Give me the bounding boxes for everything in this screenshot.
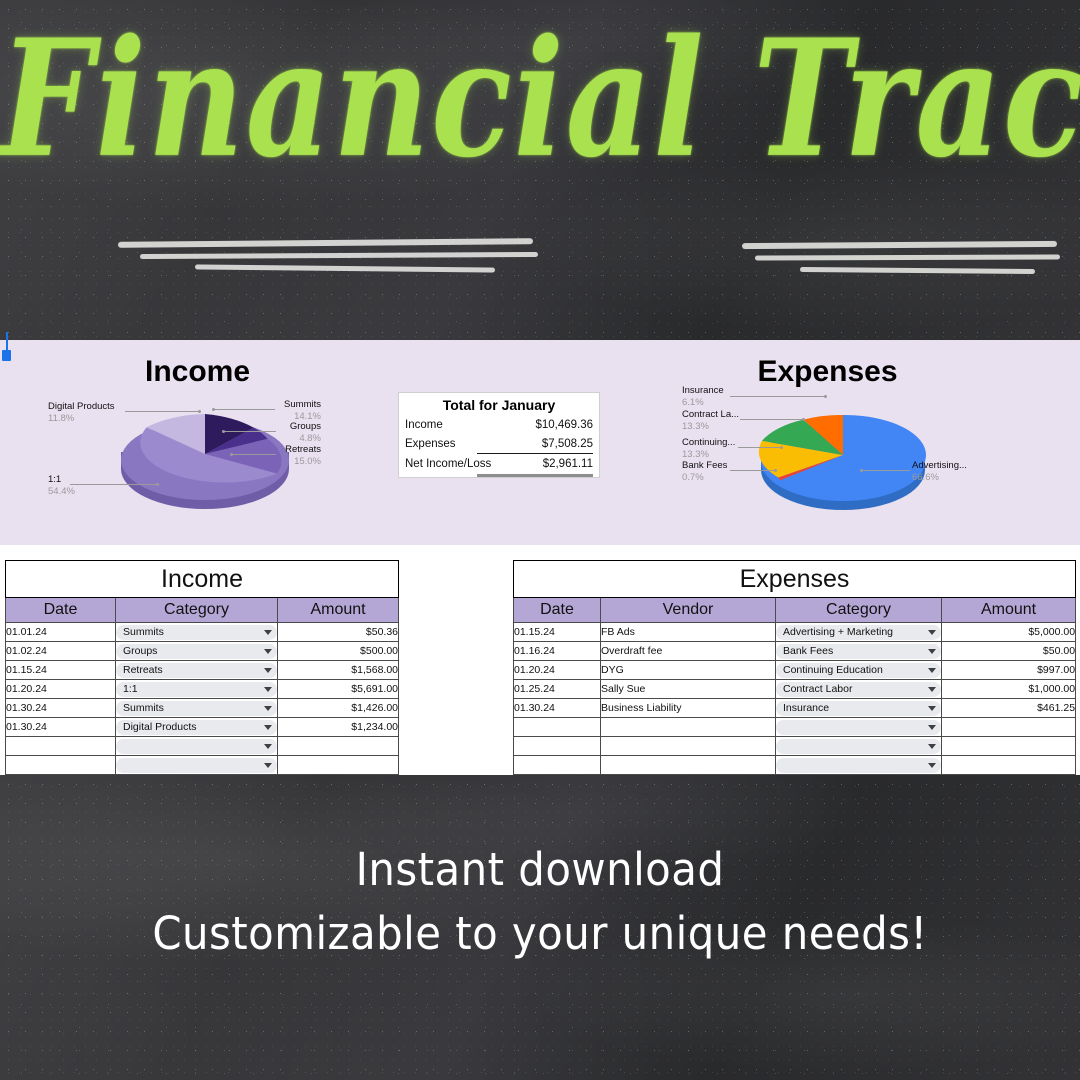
chevron-down-icon bbox=[928, 706, 936, 711]
income-table[interactable]: Income Date Category Amount 01.01.24 Sum… bbox=[5, 560, 399, 775]
chart-selection-line bbox=[6, 332, 8, 352]
dropdown-value: Summits bbox=[123, 626, 164, 638]
income-cell-amount[interactable]: $5,691.00 bbox=[278, 680, 399, 699]
expenses-cell-vendor[interactable]: FB Ads bbox=[601, 623, 776, 642]
table-row bbox=[6, 737, 399, 756]
chevron-down-icon bbox=[928, 687, 936, 692]
income-cell-amount[interactable] bbox=[278, 756, 399, 775]
footer-line-customizable: Customizable to your unique needs! bbox=[38, 902, 1042, 966]
leader-dot bbox=[860, 469, 863, 472]
income-cell-category[interactable]: Summits bbox=[116, 699, 278, 718]
category-dropdown[interactable]: Advertising + Marketing bbox=[776, 625, 941, 640]
income-table-title: Income bbox=[6, 561, 399, 598]
summary-label: Income bbox=[405, 419, 443, 431]
category-dropdown[interactable] bbox=[776, 758, 941, 773]
leader-dot bbox=[222, 430, 225, 433]
leader-line bbox=[740, 419, 804, 420]
income-cell-category[interactable]: Digital Products bbox=[116, 718, 278, 737]
expenses-cell-vendor[interactable]: DYG bbox=[601, 661, 776, 680]
expenses-cell-amount[interactable] bbox=[942, 737, 1076, 756]
income-cell-amount[interactable]: $500.00 bbox=[278, 642, 399, 661]
chevron-down-icon bbox=[928, 744, 936, 749]
monthly-total-summary: Total for January Income $10,469.36 Expe… bbox=[398, 392, 600, 478]
income-cell-amount[interactable]: $1,234.00 bbox=[278, 718, 399, 737]
dropdown-value: Bank Fees bbox=[783, 645, 833, 657]
summary-value: $7,508.25 bbox=[507, 438, 593, 450]
leader-dot bbox=[780, 446, 783, 449]
income-label-groups: Groups 4.8% bbox=[246, 421, 321, 444]
table-row: 01.01.24 Summits $50.36 bbox=[6, 623, 399, 642]
summary-row-income: Income $10,469.36 bbox=[399, 415, 599, 434]
footer-marketing-text: Instant download Customizable to your un… bbox=[0, 838, 1080, 966]
expenses-label-contract-labor: Contract La... 13.3% bbox=[682, 409, 739, 432]
category-dropdown[interactable]: Continuing Education bbox=[776, 663, 941, 678]
leader-line bbox=[70, 484, 158, 485]
income-col-date: Date bbox=[6, 598, 116, 623]
category-dropdown[interactable]: Contract Labor bbox=[776, 682, 941, 697]
category-dropdown[interactable]: Groups bbox=[116, 644, 277, 659]
income-cell-date[interactable]: 01.30.24 bbox=[6, 699, 116, 718]
table-row: 01.16.24 Overdraft fee Bank Fees $50.00 bbox=[514, 642, 1076, 661]
dropdown-value: Advertising + Marketing bbox=[783, 626, 893, 638]
chevron-down-icon bbox=[264, 668, 272, 673]
category-dropdown[interactable] bbox=[116, 758, 277, 773]
dropdown-value: Groups bbox=[123, 645, 157, 657]
expenses-cell-amount[interactable] bbox=[942, 718, 1076, 737]
income-cell-category[interactable]: Summits bbox=[116, 623, 278, 642]
income-col-amount: Amount bbox=[278, 598, 399, 623]
chevron-down-icon bbox=[928, 649, 936, 654]
table-row bbox=[514, 756, 1076, 775]
summary-label: Net Income/Loss bbox=[405, 458, 491, 470]
expenses-cell-date[interactable]: 01.20.24 bbox=[514, 661, 601, 680]
expenses-chart-title: Expenses bbox=[700, 355, 955, 389]
expenses-col-vendor: Vendor bbox=[601, 598, 776, 623]
expenses-label-advertising: Advertising... 66.6% bbox=[912, 460, 967, 483]
leader-line bbox=[224, 431, 276, 432]
chevron-down-icon bbox=[264, 687, 272, 692]
chevron-down-icon bbox=[264, 630, 272, 635]
leader-dot bbox=[230, 453, 233, 456]
chalk-underline-group bbox=[0, 240, 1080, 290]
income-cell-date[interactable]: 01.15.24 bbox=[6, 661, 116, 680]
expenses-table-title: Expenses bbox=[514, 561, 1076, 598]
category-dropdown[interactable]: Summits bbox=[116, 701, 277, 716]
income-cell-category[interactable] bbox=[116, 756, 278, 775]
chevron-down-icon bbox=[264, 744, 272, 749]
leader-line bbox=[730, 470, 776, 471]
leader-dot bbox=[824, 395, 827, 398]
category-dropdown[interactable]: Insurance bbox=[776, 701, 941, 716]
table-row: 01.30.24 Summits $1,426.00 bbox=[6, 699, 399, 718]
expenses-cell-vendor[interactable]: Sally Sue bbox=[601, 680, 776, 699]
expenses-cell-amount[interactable]: $50.00 bbox=[942, 642, 1076, 661]
expenses-cell-vendor[interactable] bbox=[601, 756, 776, 775]
leader-line bbox=[730, 396, 826, 397]
leader-dot bbox=[774, 469, 777, 472]
expenses-label-continuing-education: Continuing... 13.3% bbox=[682, 437, 735, 460]
expenses-cell-amount[interactable]: $1,000.00 bbox=[942, 680, 1076, 699]
expenses-label-insurance: Insurance 6.1% bbox=[682, 385, 724, 408]
leader-line bbox=[125, 411, 200, 412]
income-cell-category[interactable]: Retreats bbox=[116, 661, 278, 680]
summary-title: Total for January bbox=[399, 393, 599, 415]
expenses-cell-amount[interactable]: $5,000.00 bbox=[942, 623, 1076, 642]
table-row: 01.25.24 Sally Sue Contract Labor $1,000… bbox=[514, 680, 1076, 699]
income-cell-date[interactable] bbox=[6, 756, 116, 775]
expenses-cell-category[interactable]: Continuing Education bbox=[776, 661, 942, 680]
expenses-cell-date[interactable] bbox=[514, 737, 601, 756]
chevron-down-icon bbox=[264, 725, 272, 730]
expenses-cell-category[interactable] bbox=[776, 737, 942, 756]
page-title-text: Financial Tracker bbox=[0, 19, 1080, 180]
dropdown-value: 1:1 bbox=[123, 683, 138, 695]
income-label-one-on-one: 1:1 54.4% bbox=[48, 474, 75, 497]
category-dropdown[interactable] bbox=[776, 739, 941, 754]
dropdown-value: Insurance bbox=[783, 702, 829, 714]
chevron-down-icon bbox=[264, 706, 272, 711]
income-chart-title: Income bbox=[70, 355, 325, 389]
chevron-down-icon bbox=[928, 630, 936, 635]
dropdown-value: Contract Labor bbox=[783, 683, 852, 695]
income-table-header-row: Date Category Amount bbox=[6, 598, 399, 623]
income-cell-amount[interactable]: $50.36 bbox=[278, 623, 399, 642]
income-cell-date[interactable]: 01.01.24 bbox=[6, 623, 116, 642]
leader-dot bbox=[212, 408, 215, 411]
expenses-cell-category[interactable]: Insurance bbox=[776, 699, 942, 718]
expenses-pie-chart[interactable] bbox=[735, 392, 965, 522]
income-cell-amount[interactable]: $1,426.00 bbox=[278, 699, 399, 718]
income-table-title-row: Income bbox=[6, 561, 399, 598]
table-row: 01.20.24 DYG Continuing Education $997.0… bbox=[514, 661, 1076, 680]
expenses-cell-date[interactable]: 01.30.24 bbox=[514, 699, 601, 718]
leader-line bbox=[232, 454, 276, 455]
table-row: 01.30.24 Digital Products $1,234.00 bbox=[6, 718, 399, 737]
expenses-cell-amount[interactable]: $461.25 bbox=[942, 699, 1076, 718]
summary-label: Expenses bbox=[405, 438, 456, 450]
expenses-cell-amount[interactable] bbox=[942, 756, 1076, 775]
summary-row-net: Net Income/Loss $2,961.11 bbox=[399, 454, 599, 473]
expenses-cell-vendor[interactable]: Business Liability bbox=[601, 699, 776, 718]
expenses-cell-category[interactable]: Contract Labor bbox=[776, 680, 942, 699]
expenses-table-title-row: Expenses bbox=[514, 561, 1076, 598]
summary-value: $2,961.11 bbox=[507, 458, 593, 470]
leader-line bbox=[213, 409, 275, 410]
chevron-down-icon bbox=[264, 649, 272, 654]
financial-tracker-listing: Financial Tracker Income Digital Product… bbox=[0, 0, 1080, 1080]
income-label-summits: Summits 14.1% bbox=[246, 399, 321, 422]
expenses-label-bank-fees: Bank Fees 0.7% bbox=[682, 460, 727, 483]
footer-line-instant-download: Instant download bbox=[38, 838, 1042, 902]
income-cell-category[interactable]: 1:1 bbox=[116, 680, 278, 699]
expenses-table-header-row: Date Vendor Category Amount bbox=[514, 598, 1076, 623]
table-row: 01.15.24 FB Ads Advertising + Marketing … bbox=[514, 623, 1076, 642]
chevron-down-icon bbox=[264, 763, 272, 768]
expenses-table[interactable]: Expenses Date Vendor Category Amount 01.… bbox=[513, 560, 1076, 775]
income-cell-amount[interactable] bbox=[278, 737, 399, 756]
chevron-down-icon bbox=[928, 668, 936, 673]
expenses-cell-vendor[interactable] bbox=[601, 737, 776, 756]
income-cell-date[interactable]: 01.20.24 bbox=[6, 680, 116, 699]
expenses-cell-date[interactable]: 01.25.24 bbox=[514, 680, 601, 699]
income-col-category: Category bbox=[116, 598, 278, 623]
table-row: 01.15.24 Retreats $1,568.00 bbox=[6, 661, 399, 680]
category-dropdown[interactable] bbox=[116, 739, 277, 754]
table-row bbox=[514, 737, 1076, 756]
category-dropdown[interactable]: Summits bbox=[116, 625, 277, 640]
table-row: 01.30.24 Business Liability Insurance $4… bbox=[514, 699, 1076, 718]
income-cell-category[interactable]: Groups bbox=[116, 642, 278, 661]
leader-dot bbox=[198, 410, 201, 413]
chevron-down-icon bbox=[928, 763, 936, 768]
summary-value: $10,469.36 bbox=[507, 419, 593, 431]
income-cell-category[interactable] bbox=[116, 737, 278, 756]
summary-row-expenses: Expenses $7,508.25 bbox=[399, 434, 599, 453]
category-dropdown[interactable]: 1:1 bbox=[116, 682, 277, 697]
income-cell-date[interactable] bbox=[6, 737, 116, 756]
expenses-cell-vendor[interactable] bbox=[601, 718, 776, 737]
summary-total-rule bbox=[477, 474, 593, 477]
income-cell-amount[interactable]: $1,568.00 bbox=[278, 661, 399, 680]
income-cell-date[interactable]: 01.02.24 bbox=[6, 642, 116, 661]
income-cell-date[interactable]: 01.30.24 bbox=[6, 718, 116, 737]
dropdown-value: Retreats bbox=[123, 664, 163, 676]
chart-selection-handle[interactable] bbox=[2, 350, 11, 361]
category-dropdown[interactable]: Digital Products bbox=[116, 720, 277, 735]
table-row bbox=[514, 718, 1076, 737]
expenses-cell-date[interactable] bbox=[514, 756, 601, 775]
expenses-cell-category[interactable]: Bank Fees bbox=[776, 642, 942, 661]
income-label-digital-products: Digital Products 11.8% bbox=[48, 401, 115, 424]
leader-line bbox=[862, 470, 910, 471]
expenses-cell-date[interactable]: 01.15.24 bbox=[514, 623, 601, 642]
expenses-cell-date[interactable] bbox=[514, 718, 601, 737]
dropdown-value: Continuing Education bbox=[783, 664, 883, 676]
table-row bbox=[6, 756, 399, 775]
expenses-cell-category[interactable]: Advertising + Marketing bbox=[776, 623, 942, 642]
expenses-cell-date[interactable]: 01.16.24 bbox=[514, 642, 601, 661]
expenses-cell-category[interactable] bbox=[776, 756, 942, 775]
expenses-cell-vendor[interactable]: Overdraft fee bbox=[601, 642, 776, 661]
expenses-col-date: Date bbox=[514, 598, 601, 623]
leader-dot bbox=[156, 483, 159, 486]
category-dropdown[interactable]: Bank Fees bbox=[776, 644, 941, 659]
leader-dot bbox=[802, 418, 805, 421]
chevron-down-icon bbox=[928, 725, 936, 730]
expenses-cell-amount[interactable]: $997.00 bbox=[942, 661, 1076, 680]
income-label-retreats: Retreats 15.0% bbox=[246, 444, 321, 467]
category-dropdown[interactable]: Retreats bbox=[116, 663, 277, 678]
dropdown-value: Digital Products bbox=[123, 721, 197, 733]
table-row: 01.20.24 1:1 $5,691.00 bbox=[6, 680, 399, 699]
expenses-col-category: Category bbox=[776, 598, 942, 623]
expenses-cell-category[interactable] bbox=[776, 718, 942, 737]
leader-line bbox=[738, 447, 782, 448]
expenses-col-amount: Amount bbox=[942, 598, 1076, 623]
table-row: 01.02.24 Groups $500.00 bbox=[6, 642, 399, 661]
page-title: Financial Tracker bbox=[0, 34, 1080, 166]
dropdown-value: Summits bbox=[123, 702, 164, 714]
category-dropdown[interactable] bbox=[776, 720, 941, 735]
